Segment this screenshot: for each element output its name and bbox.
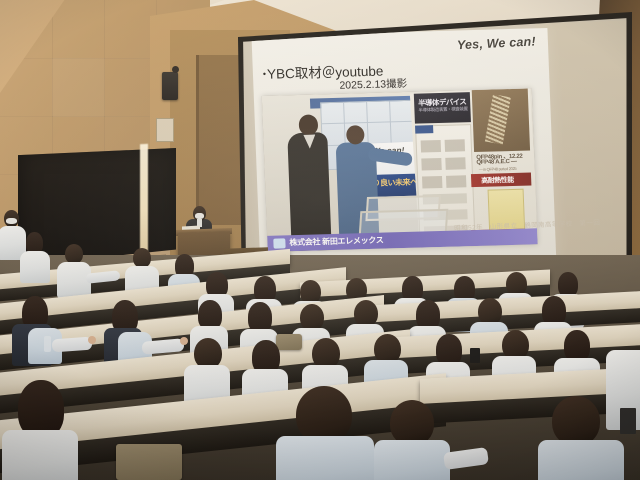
bag [276, 334, 302, 350]
wall-speaker-icon [162, 72, 178, 100]
poster-red-band-1-text: 高耐熱性能 [481, 175, 514, 186]
projection-screen: Yes, We can! •YBC取材＠youtube 2025.2.13撮影 … [240, 16, 628, 284]
phone [470, 348, 480, 363]
speaker-mount [172, 66, 179, 73]
projected-slide: Yes, We can! •YBC取材＠youtube 2025.2.13撮影 … [251, 28, 556, 274]
bullet-marker-icon: • [263, 69, 267, 79]
water-bottle [44, 336, 51, 352]
slide-tagline: Yes, We can! [457, 34, 537, 52]
lecture-hall-photo: Yes, We can! •YBC取材＠youtube 2025.2.13撮影 … [0, 0, 640, 480]
wall-panel-plate [156, 118, 174, 142]
poster-code-line-3: ― in QFP48 period 2025 [479, 166, 517, 172]
video-channel-badge-icon [273, 238, 285, 248]
bag [116, 444, 182, 480]
slide-date: 2025.2.13撮影 [339, 76, 407, 93]
poster-code-line-2: QFP48 A.E.C ― [476, 159, 516, 166]
phone [620, 408, 636, 434]
poster-blue-tab [415, 125, 433, 133]
video-person-suit-head [299, 114, 319, 135]
